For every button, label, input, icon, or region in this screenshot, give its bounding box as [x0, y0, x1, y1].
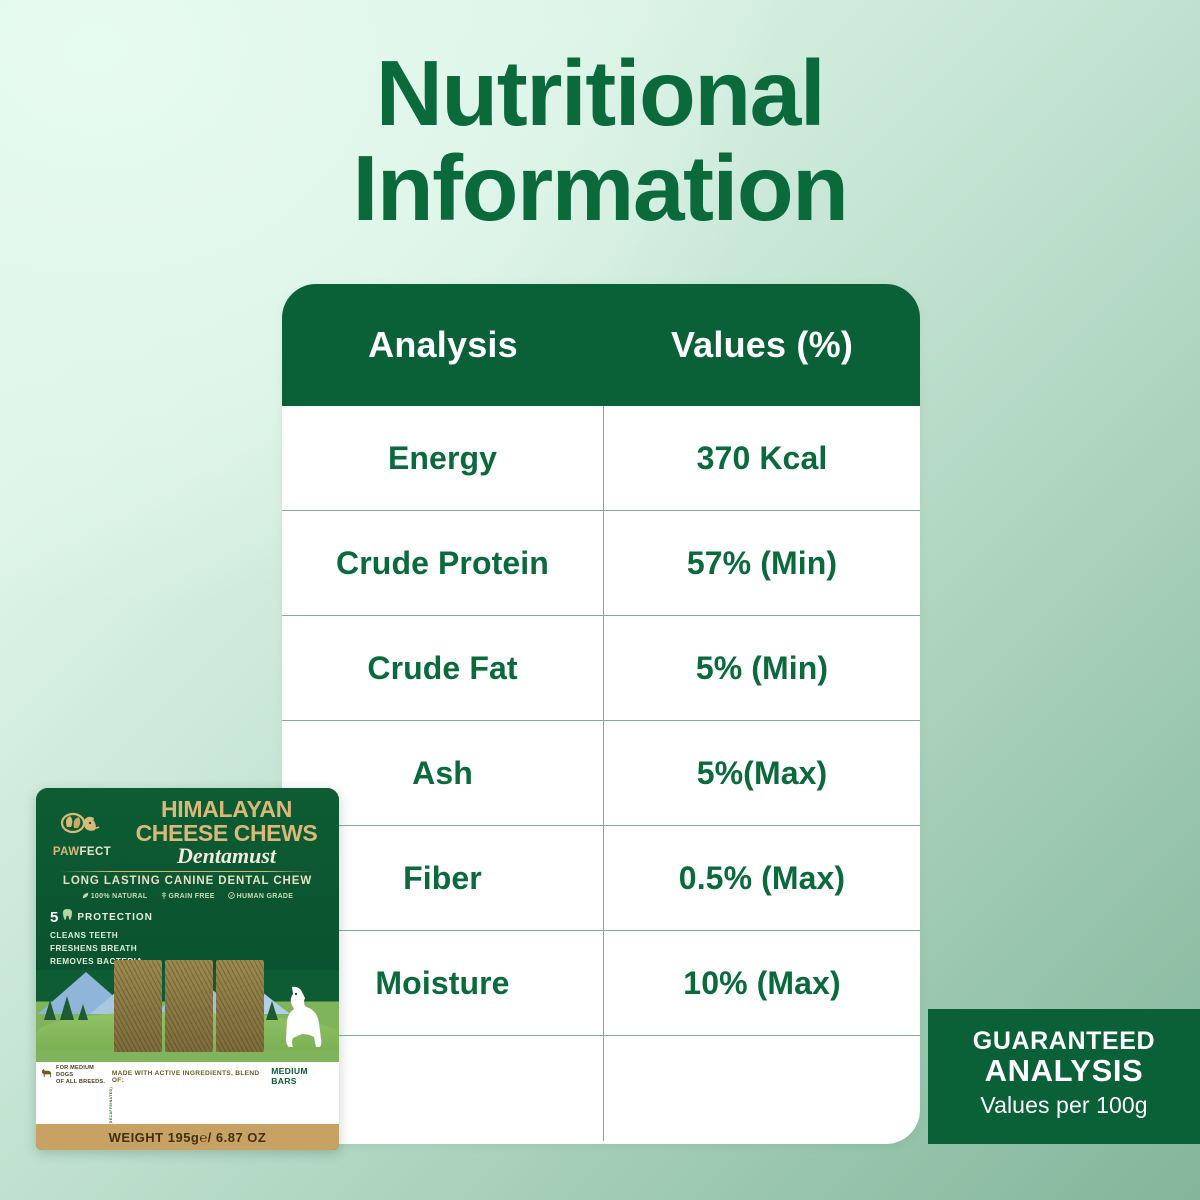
table-header-row: Analysis Values (%): [282, 284, 920, 406]
package-badge-grain-free-label: GRAIN FREE: [169, 893, 215, 900]
protection-count: 5: [50, 909, 58, 926]
row-label: Crude Fat: [282, 616, 604, 720]
chew-bar: [165, 960, 213, 1052]
wheat-icon: [161, 892, 167, 901]
guaranteed-analysis-badge: GUARANTEED ANALYSIS Values per 100g: [928, 1009, 1200, 1144]
nutrition-table: Analysis Values (%) Energy 370 Kcal Crud…: [282, 284, 920, 1144]
ingredients-heading: MADE WITH ACTIVE INGREDIENTS, BLEND OF:: [112, 1065, 271, 1084]
ingredients-top-row: FOR MEDIUM DOGS OF ALL BREEDS. MADE WITH…: [40, 1065, 335, 1086]
table-row-empty: [282, 1036, 920, 1141]
package-heading-himalayan: HIMALAYAN: [124, 798, 329, 821]
row-value: 370 Kcal: [604, 406, 920, 510]
badge-line-guaranteed: GUARANTEED: [928, 1027, 1200, 1055]
product-package-image: PAWFECT HIMALAYAN CHEESE CHEWS Dentamust…: [36, 788, 339, 1150]
row-value: 0.5% (Max): [604, 826, 920, 930]
tree-icon: [44, 1000, 56, 1020]
package-top-panel: PAWFECT HIMALAYAN CHEESE CHEWS Dentamust…: [36, 788, 339, 970]
row-value: [604, 1036, 920, 1141]
page-title-line-2: Information: [0, 143, 1200, 234]
table-row: Crude Fat 5% (Min): [282, 616, 920, 721]
table-row: Energy 370 Kcal: [282, 406, 920, 511]
row-label: Energy: [282, 406, 604, 510]
package-badge-grain-free: GRAIN FREE: [161, 892, 215, 901]
package-badge-human-grade: HUMAN GRADE: [228, 892, 294, 901]
table-row: Moisture 10% (Max): [282, 931, 920, 1036]
package-tagline: LONG LASTING CANINE DENTAL CHEW: [46, 875, 329, 887]
row-value: 5% (Min): [604, 616, 920, 720]
table-header-analysis: Analysis: [282, 324, 604, 366]
package-weight-label: WEIGHT 195g℮/ 6.87 OZ: [36, 1124, 339, 1150]
shield-check-icon: [228, 892, 235, 901]
package-brand-row: PAWFECT HIMALAYAN CHEESE CHEWS Dentamust: [46, 798, 329, 868]
protection-heading: 5 PROTECTION: [50, 908, 329, 926]
package-heading-cheese-chews: CHEESE CHEWS: [124, 821, 329, 845]
row-value: 10% (Max): [604, 931, 920, 1035]
badge-line-values-per-100g: Values per 100g: [928, 1092, 1200, 1119]
table-row: Ash 5%(Max): [282, 721, 920, 826]
package-badge-natural: 100% NATURAL: [82, 892, 148, 901]
tree-icon: [60, 996, 74, 1020]
brand-paw: PAW: [53, 846, 80, 858]
leaf-icon: [82, 892, 89, 901]
brand-wordmark: PAWFECT: [46, 846, 118, 858]
tooth-icon: [62, 908, 73, 926]
page-title-line-1: Nutritional: [0, 48, 1200, 139]
protection-word: PROTECTION: [77, 912, 153, 923]
page-title: Nutritional Information: [0, 48, 1200, 234]
row-value: 57% (Min): [604, 511, 920, 615]
dog-small-icon: [40, 1066, 53, 1084]
package-badge-human-grade-label: HUMAN GRADE: [237, 893, 294, 900]
for-dogs-line-1: FOR MEDIUM DOGS: [56, 1065, 94, 1078]
package-badge-natural-label: 100% NATURAL: [91, 893, 148, 900]
badge-line-analysis: ANALYSIS: [928, 1055, 1200, 1088]
table-row: Fiber 0.5% (Max): [282, 826, 920, 931]
chew-bar: [114, 960, 162, 1052]
pawfect-dog-leaf-icon: [59, 811, 105, 845]
ingredient-label-sub: (DECAFFEINATED): [109, 1087, 113, 1125]
row-label: Crude Protein: [282, 511, 604, 615]
chew-bars-product-photo: [114, 960, 264, 1052]
protection-item: FRESHENS BREATH: [50, 944, 329, 953]
for-dogs-line-2: OF ALL BREEDS.: [56, 1079, 105, 1085]
table-row: Crude Protein 57% (Min): [282, 511, 920, 616]
package-size-label: MEDIUM BARS: [271, 1065, 335, 1086]
brand-fect: FECT: [79, 846, 111, 858]
protection-item: CLEANS TEETH: [50, 931, 329, 940]
package-ingredients-strip: FOR MEDIUM DOGS OF ALL BREEDS. MADE WITH…: [36, 1062, 339, 1124]
package-badges: 100% NATURAL GRAIN FREE HUMAN GRADE: [46, 892, 329, 901]
dog-silhouette-icon: [267, 984, 333, 1054]
chew-bar: [216, 960, 264, 1052]
for-dogs-text: FOR MEDIUM DOGS OF ALL BREEDS.: [56, 1065, 112, 1086]
tree-icon: [78, 1004, 88, 1020]
for-dogs-note: FOR MEDIUM DOGS OF ALL BREEDS.: [40, 1065, 112, 1086]
package-titles: HIMALAYAN CHEESE CHEWS Dentamust: [124, 798, 329, 868]
package-divider: [60, 871, 315, 872]
table-header-values: Values (%): [604, 324, 920, 366]
brand-logo: PAWFECT: [46, 809, 118, 858]
row-value: 5%(Max): [604, 721, 920, 825]
package-product-name: Dentamust: [124, 844, 329, 868]
